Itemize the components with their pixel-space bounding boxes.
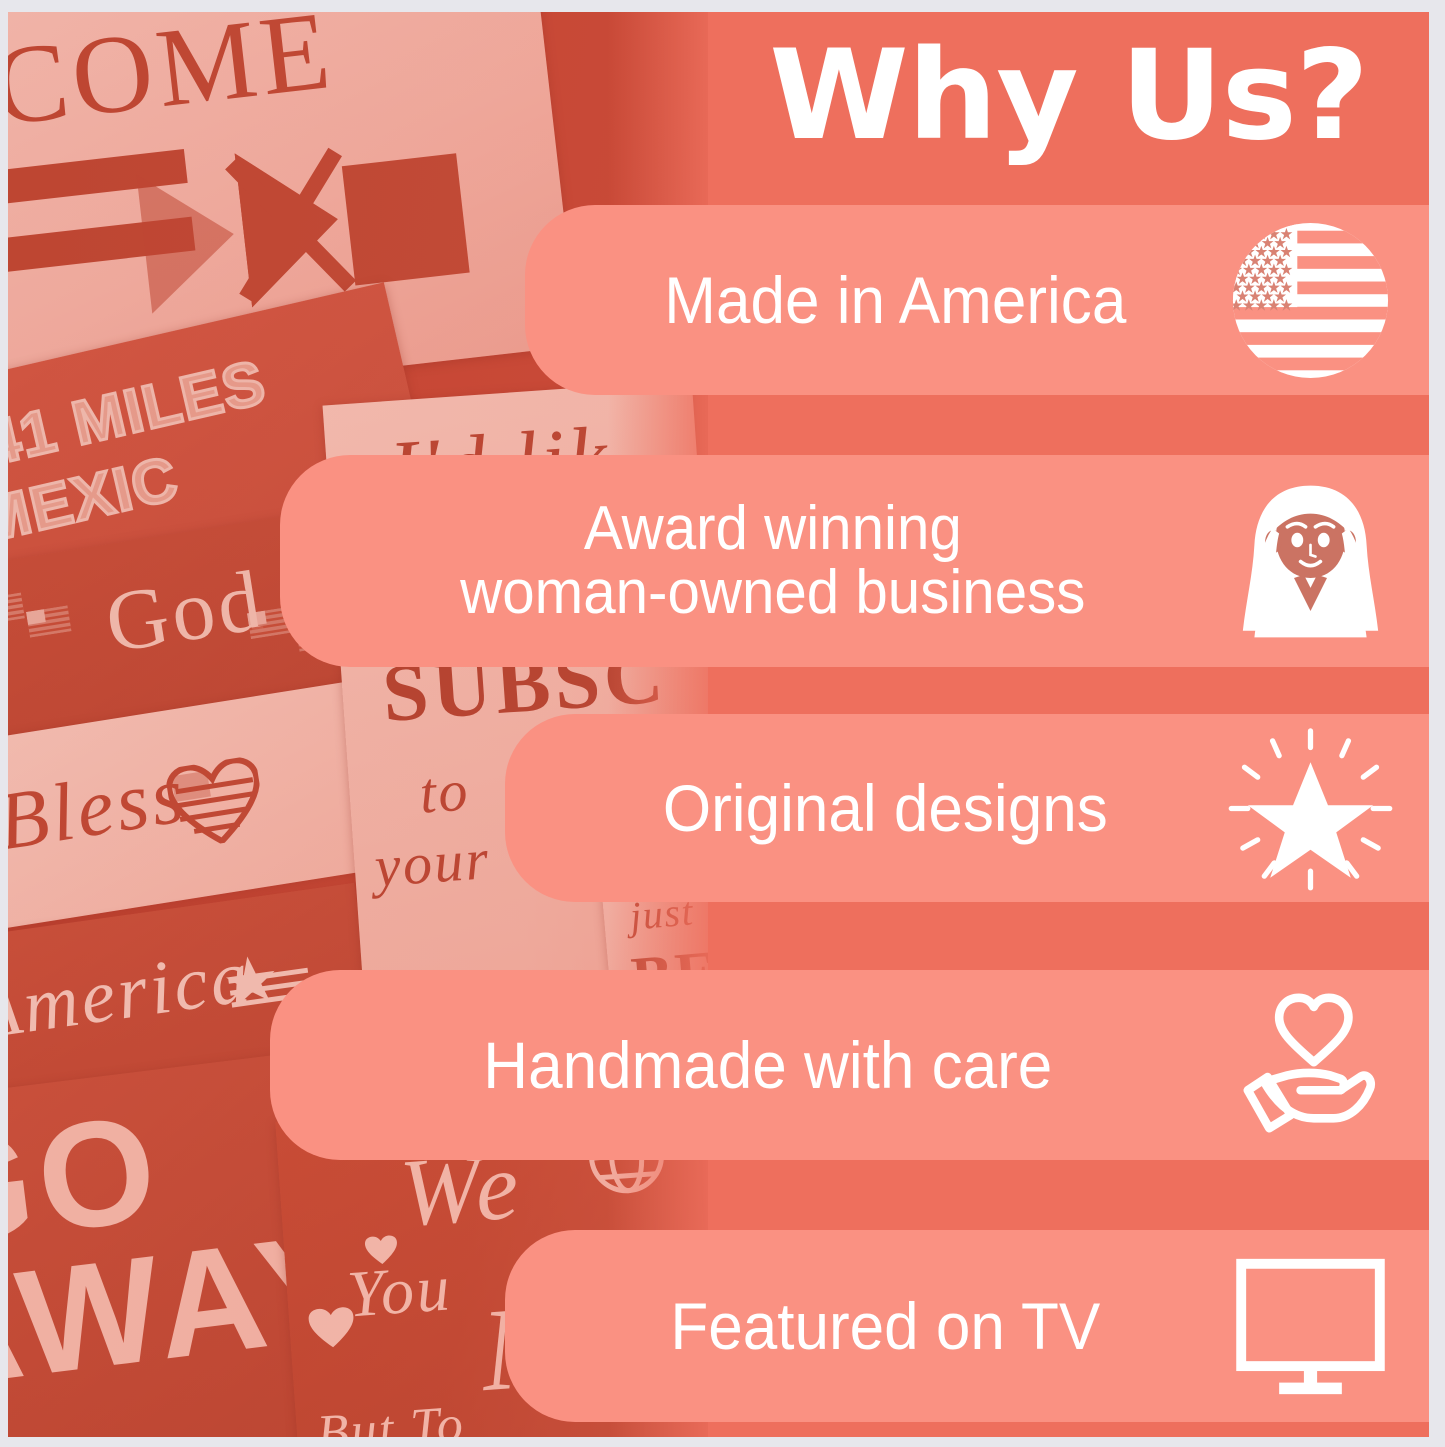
usa-flag-circle-icon [1228, 218, 1393, 383]
feature-label: Original designs [527, 774, 1207, 843]
feature-label: Featured on TV [527, 1292, 1207, 1361]
sign-we-line2: You [345, 1250, 455, 1333]
sign-god-text: God [99, 549, 271, 673]
mini-flag-icon [26, 605, 72, 637]
feature-label: Made in America [546, 266, 1207, 335]
sign-bless-text: Bless [8, 747, 193, 869]
mini-flag-icon [8, 593, 25, 625]
sign-sub-line5: your [372, 825, 492, 900]
sparkling-star-icon [1228, 726, 1393, 891]
feature-row-handmade[interactable]: Handmade with care [270, 970, 1429, 1160]
hand-holding-heart-icon [1228, 983, 1393, 1148]
infographic-stage: LCOME 441 MILES MEXIC [8, 12, 1429, 1437]
feature-row-featured-on-tv[interactable]: Featured on TV [505, 1230, 1429, 1422]
flag-heart-icon [164, 755, 268, 850]
page-title: Why Us? [701, 34, 1429, 158]
woman-avatar-icon [1228, 479, 1393, 644]
screenshot-canvas: LCOME 441 MILES MEXIC [0, 0, 1445, 1447]
feature-row-original-designs[interactable]: Original designs [505, 714, 1429, 902]
feature-row-made-in-america[interactable]: Made in America [525, 205, 1429, 395]
feature-row-woman-owned[interactable]: Award winning woman-owned business [280, 455, 1429, 667]
feature-label: Handmade with care [299, 1031, 1200, 1100]
feature-label: Award winning woman-owned business [308, 497, 1199, 626]
sign-sub-line4: to [417, 756, 471, 826]
sign-we-line4: But To [315, 1395, 467, 1437]
sign-america-text: America [8, 933, 257, 1058]
television-icon [1228, 1244, 1393, 1409]
